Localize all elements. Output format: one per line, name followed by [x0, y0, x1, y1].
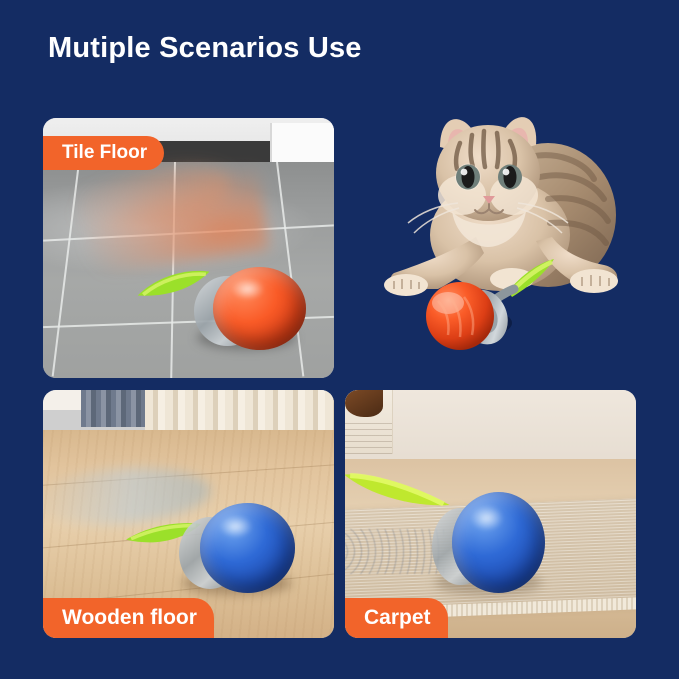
scenario-panel-carpet: Carpet	[345, 390, 636, 638]
ball-toy-icon	[432, 479, 554, 608]
ball-body	[452, 492, 545, 593]
ball-toy-icon	[177, 499, 305, 608]
kitten-photo	[380, 95, 660, 370]
ball-body	[200, 503, 295, 592]
motion-arcs	[345, 529, 444, 574]
page-title: Mutiple Scenarios Use	[48, 32, 362, 65]
scenario-panel-wood: Wooden floor	[43, 390, 334, 638]
curtain-dark	[81, 390, 145, 427]
basket-weave	[345, 420, 392, 455]
scenario-panel-tile: Tile Floor	[43, 118, 334, 378]
wooden-bowl	[345, 390, 383, 417]
ball-body	[213, 267, 307, 350]
marketing-banner: Mutiple Scenarios Use	[0, 0, 679, 679]
ball-highlight	[470, 505, 503, 531]
ball-toy-icon	[189, 261, 323, 365]
wooden-floor-photo	[43, 390, 334, 638]
ball-highlight	[219, 515, 253, 538]
ball-highlight	[231, 278, 265, 300]
tile-floor-photo	[43, 118, 334, 378]
carpet-photo	[345, 390, 636, 638]
kitten-icon	[380, 95, 660, 370]
cabinet	[270, 123, 334, 168]
